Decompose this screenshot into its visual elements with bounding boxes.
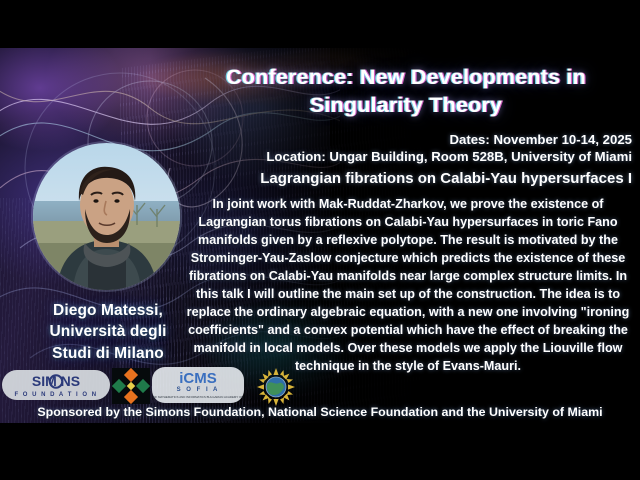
icms-logo-tertiary: INSTITUTE OF MATHEMATICS AND INFORMATICS… (152, 395, 244, 399)
simons-logo-secondary: F O U N D A T I O N (14, 392, 97, 398)
conference-title: Conference: New Developments in Singular… (180, 64, 632, 120)
icms-logo-primary: iCMS (179, 370, 217, 387)
slide-content: Diego Matessi, Università degli Studi di… (0, 48, 640, 423)
icms-logo-secondary: S O F I A (177, 387, 220, 393)
conference-title-line-2: Singularity Theory (180, 92, 632, 120)
talk-title: Lagrangian fibrations on Calabi-Yau hype… (72, 170, 632, 187)
conference-location: Location: Ungar Building, Room 528B, Uni… (72, 149, 632, 164)
talk-abstract: In joint work with Mak-Ruddat-Zharkov, w… (184, 195, 632, 375)
sponsor-caption-bar: Sponsored by the Simons Foundation, Nati… (0, 400, 640, 423)
video-frame: Diego Matessi, Università degli Studi di… (0, 0, 640, 480)
conference-title-line-1: Conference: New Developments in (180, 64, 632, 92)
portrait-image (33, 143, 180, 290)
speaker-name: Diego Matessi, Università degli Studi di… (8, 300, 208, 364)
speaker-name-line-2: Università degli (8, 321, 208, 342)
speaker-name-line-1: Diego Matessi, (8, 300, 208, 321)
speaker-name-line-3: Studi di Milano (8, 343, 208, 364)
letterbox-top (0, 0, 640, 48)
sponsor-caption: Sponsored by the Simons Foundation, Nati… (37, 405, 602, 419)
letterbox-bottom (0, 423, 640, 480)
speaker-photo (33, 143, 180, 290)
conference-dates: Dates: November 10-14, 2025 (180, 132, 632, 147)
